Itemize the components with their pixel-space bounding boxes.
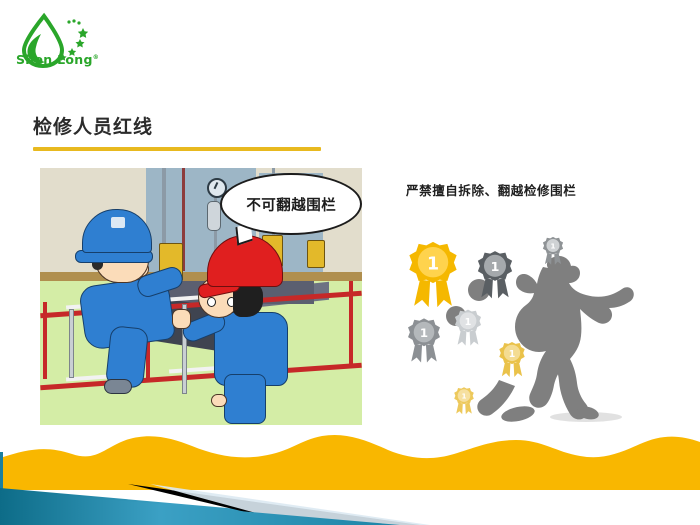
svg-text:1: 1 xyxy=(491,259,500,274)
railing-mid-post-1 xyxy=(69,309,74,378)
brand-logo xyxy=(14,12,100,78)
svg-text:1: 1 xyxy=(465,317,472,328)
gold-wave-decoration xyxy=(0,432,700,490)
page-title: 检修人员红线 xyxy=(33,112,153,139)
worker-blue-shoe xyxy=(104,379,132,394)
svg-text:1: 1 xyxy=(420,326,428,340)
medal-ribbon-silver-3: 1 xyxy=(455,310,481,346)
safety-illustration: 不可翻越围栏 xyxy=(40,168,362,425)
gold-wave-shape xyxy=(0,432,700,490)
bottom-triangle-shape xyxy=(0,484,700,525)
achievement-graphic: 1 1 1 1 1 xyxy=(396,228,684,424)
medal-ribbon-gold-large: 1 xyxy=(409,242,456,307)
brand-name: Shen Long® xyxy=(16,52,99,67)
bottom-triangle-decoration xyxy=(0,484,700,525)
worker-red-hand-down xyxy=(211,394,227,407)
title-underline xyxy=(33,147,321,151)
worker-red-leg xyxy=(224,374,266,424)
speech-bubble: 不可翻越围栏 xyxy=(220,173,362,235)
yellow-cylinder-3 xyxy=(307,240,325,268)
slide-canvas: Shen Long® 检修人员红线 xyxy=(0,0,700,525)
medal-ribbon-gold-small: 1 xyxy=(499,342,524,377)
brand-name-text: Shen Long xyxy=(16,52,93,67)
helmet-badge xyxy=(111,217,125,228)
svg-text:1: 1 xyxy=(509,349,516,360)
runner-and-medals-illustration: 1 1 1 1 1 xyxy=(396,228,684,424)
railing-post-4 xyxy=(349,281,353,366)
medal-ribbon-gold-xsmall: 1 xyxy=(454,387,474,414)
svg-text:1: 1 xyxy=(550,242,555,251)
registered-mark: ® xyxy=(93,54,99,61)
water-drop-logo-icon xyxy=(14,12,100,78)
worker-red-hand-up xyxy=(172,309,191,329)
railing-post-1 xyxy=(43,302,47,379)
worker-red-eye-left xyxy=(207,297,216,307)
medal-ribbon-silver-1: 1 xyxy=(478,251,512,298)
warning-caption: 严禁擅自拆除、翻越检修围栏 xyxy=(406,180,576,199)
svg-text:1: 1 xyxy=(461,392,466,401)
medal-ribbon-silver-2: 1 xyxy=(408,318,440,362)
svg-text:1: 1 xyxy=(427,254,439,274)
